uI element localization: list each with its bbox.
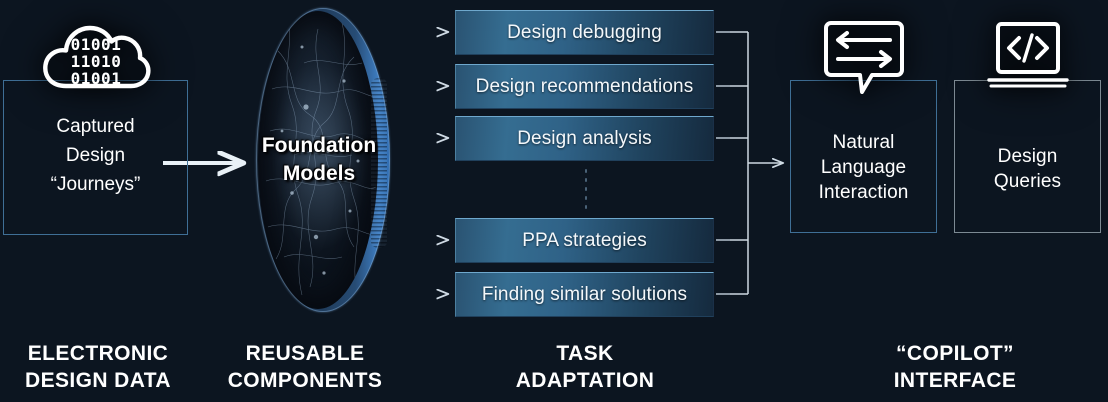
- chat-bubble-exchange-icon: [822, 18, 906, 98]
- task-label: PPA strategies: [522, 230, 647, 252]
- cloud-binary-icon: 01001 11010 01001: [38, 12, 154, 102]
- task-box[interactable]: PPA strategies: [455, 218, 714, 263]
- captured-design-line-2: Design: [3, 141, 188, 170]
- laptop-code-icon: [985, 20, 1071, 98]
- task-box[interactable]: Finding similar solutions: [455, 272, 714, 317]
- section-title-reusable-components: REUSABLE COMPONENTS: [190, 340, 420, 394]
- design-queries-label: Design Queries: [954, 144, 1101, 194]
- binary-line-3: 01001: [38, 70, 154, 87]
- section-title-electronic-design-data: ELECTRONIC DESIGN DATA: [0, 340, 196, 394]
- task-label: Design analysis: [517, 128, 652, 150]
- task-label: Finding similar solutions: [482, 284, 687, 306]
- binary-line-2: 11010: [38, 53, 154, 70]
- task-output-stubs: [716, 32, 730, 294]
- task-box[interactable]: Design analysis: [455, 116, 714, 161]
- diagram-canvas: 01001 11010 01001 Captured Design “Journ…: [0, 0, 1108, 402]
- binary-line-1: 01001: [38, 36, 154, 53]
- captured-design-label: Captured Design “Journeys”: [3, 112, 188, 199]
- foundation-models-disc: Foundation Models: [256, 8, 390, 312]
- natural-language-label: Natural Language Interaction: [790, 130, 937, 205]
- task-label: Design recommendations: [476, 76, 694, 98]
- task-label: Design debugging: [507, 22, 662, 44]
- task-box[interactable]: Design recommendations: [455, 64, 714, 109]
- section-title-copilot-interface: “COPILOT” INTERFACE: [820, 340, 1090, 394]
- bracket-tasks-to-copilot: [716, 32, 783, 294]
- foundation-models-label: Foundation Models: [256, 132, 382, 188]
- task-box[interactable]: Design debugging: [455, 10, 714, 55]
- section-title-task-adaptation: TASK ADAPTATION: [455, 340, 715, 394]
- captured-design-line-3: “Journeys”: [3, 170, 188, 199]
- captured-design-line-1: Captured: [3, 112, 188, 141]
